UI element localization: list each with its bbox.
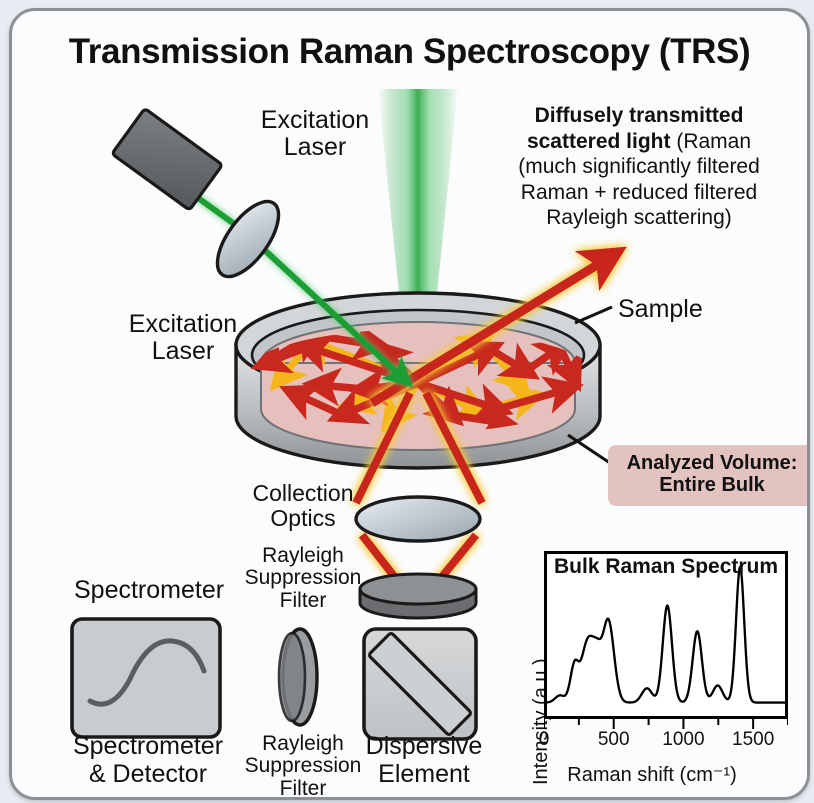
- spectrum-xtick-label: 0: [539, 729, 550, 751]
- diffuse-bold-line1: Diffusely transmitted: [535, 104, 744, 127]
- page-title: Transmission Raman Spectroscopy (TRS): [12, 33, 807, 71]
- diagram-card: Transmission Raman Spectroscopy (TRS) Ex…: [9, 8, 810, 800]
- laser-source-box: [112, 108, 223, 210]
- badge-line-1: Analyzed Volume:: [627, 452, 798, 474]
- spectrum-x-ticks: 050010001500: [544, 719, 788, 753]
- badge-line-2: Entire Bulk: [659, 474, 765, 496]
- label-excitation-laser-top: Excitation Laser: [240, 107, 390, 161]
- diffuse-rest-4: Rayleigh scattering): [546, 206, 732, 229]
- spectrum-x-axis-label: Raman shift (cm⁻¹): [506, 762, 798, 787]
- label-rayleigh-filter-top: Rayleigh Suppression Filter: [230, 545, 376, 612]
- spectrum-x-axis-label-text: Raman shift (cm⁻¹): [567, 764, 736, 786]
- diffuse-rest-3: Raman + reduced filtered: [521, 181, 757, 204]
- spectrum-xtick-label: 1500: [732, 729, 774, 751]
- label-collection-optics: Collection Optics: [230, 481, 376, 531]
- spectrum-xtick-label: 1000: [662, 729, 704, 751]
- label-spectrometer-detector: Spectrometer & Detector: [58, 733, 238, 788]
- label-excitation-laser-left: Excitation Laser: [108, 311, 258, 365]
- label-diffuse-transmitted: Diffusely transmitted scattered light (R…: [478, 103, 800, 231]
- bulk-raman-spectrum-inset: Intensity (a.u.) Bulk Raman Spectrum 050…: [506, 547, 798, 797]
- spectrometer-detector-box[interactable]: [72, 619, 220, 737]
- focusing-lens: [206, 192, 290, 287]
- diffuse-rest-1: (Raman: [671, 130, 752, 153]
- dispersive-element[interactable]: [364, 629, 476, 739]
- analyzed-volume-badge: Analyzed Volume: Entire Bulk: [608, 445, 810, 506]
- diffuse-bold-line2: scattered light: [527, 130, 671, 153]
- label-sample: Sample: [618, 296, 703, 323]
- label-spectrometer-top: Spectrometer: [74, 577, 224, 604]
- diagram-root: Transmission Raman Spectroscopy (TRS) Ex…: [0, 0, 814, 803]
- rayleigh-suppression-filter-top[interactable]: [360, 574, 476, 618]
- diffuse-rest-2: (much significantly filtered: [518, 155, 760, 178]
- spectrum-xtick-label: 500: [598, 729, 630, 751]
- spectrum-title: Bulk Raman Spectrum: [554, 555, 778, 579]
- label-dispersive-element: Dispersive Element: [348, 733, 500, 788]
- rayleigh-suppression-filter-bottom[interactable]: [279, 629, 317, 725]
